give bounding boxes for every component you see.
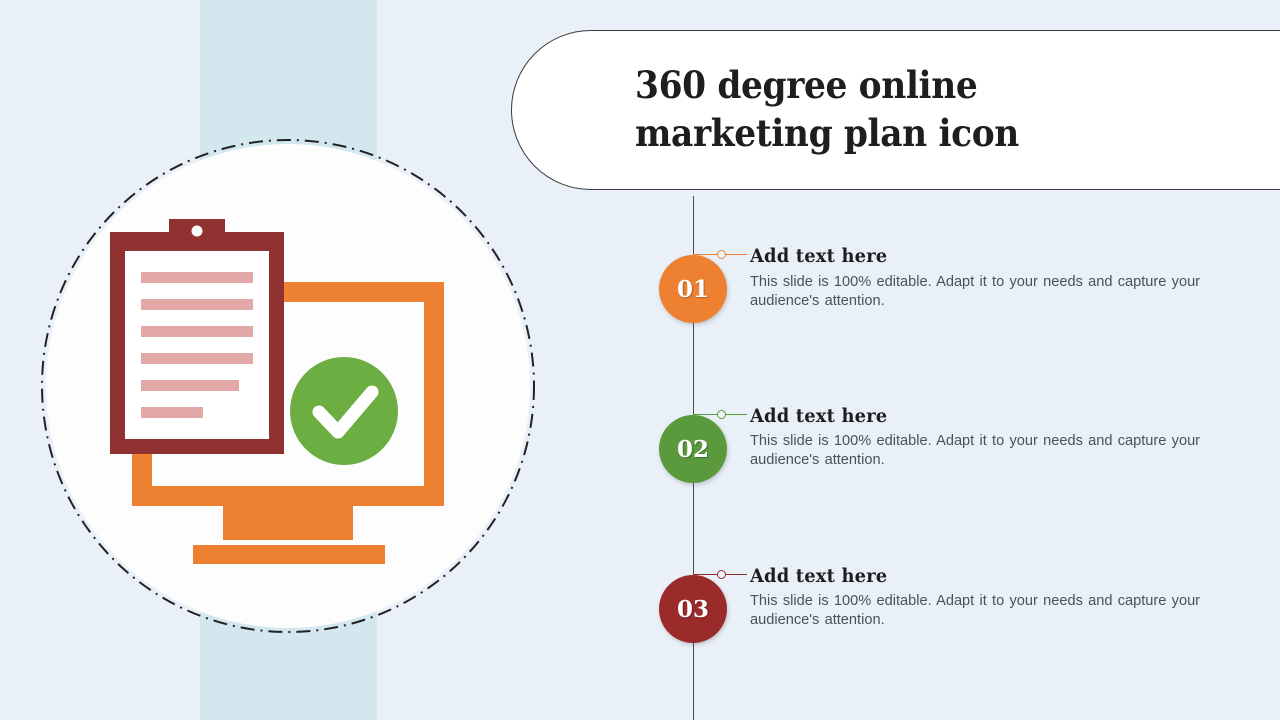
step-number-badge: 01 xyxy=(659,255,727,323)
title-card: 360 degree online marketing plan icon xyxy=(511,30,1280,190)
step-number-badge: 02 xyxy=(659,415,727,483)
connector-dot-icon xyxy=(717,570,726,579)
connector-dot-icon xyxy=(717,410,726,419)
row-body-text: This slide is 100% editable. Adapt it to… xyxy=(750,432,1202,469)
row-heading: Add text here xyxy=(750,245,887,267)
row-heading: Add text here xyxy=(750,565,887,587)
row-body-text: This slide is 100% editable. Adapt it to… xyxy=(750,273,1202,310)
row-heading: Add text here xyxy=(750,405,887,427)
illustration xyxy=(38,136,538,636)
step-number-badge: 03 xyxy=(659,575,727,643)
page-title: 360 degree online marketing plan icon xyxy=(635,61,1174,157)
row-body-text: This slide is 100% editable. Adapt it to… xyxy=(750,592,1202,629)
slide-canvas: 360 degree online marketing plan icon xyxy=(0,0,1280,720)
connector-dot-icon xyxy=(717,250,726,259)
monitor-clipboard-check-icon xyxy=(38,136,538,636)
